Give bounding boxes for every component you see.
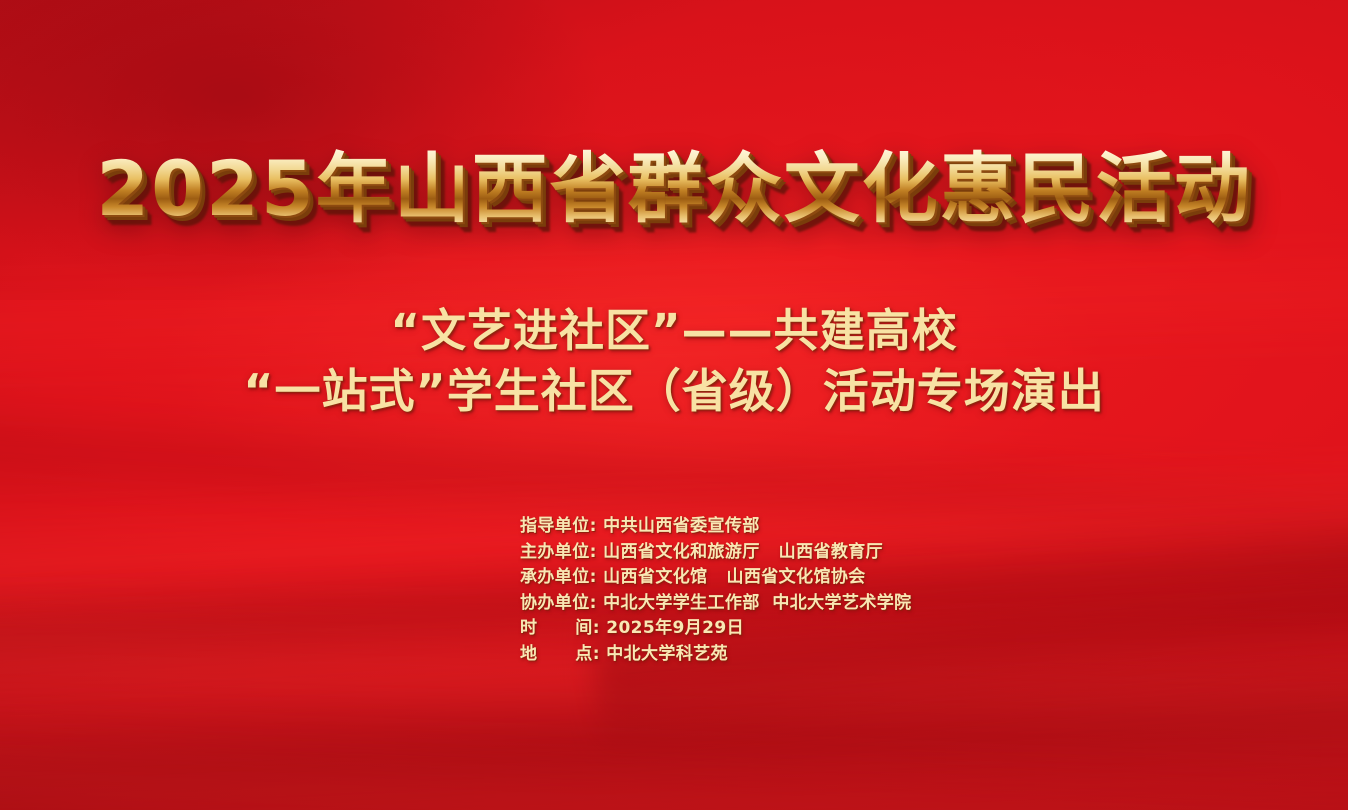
poster-title: 2025年山西省群众文化惠民活动 (96, 148, 1252, 230)
credit-line-time: 时 间: 2025年9月29日 (520, 616, 912, 642)
poster-subtitle-line-1: “文艺进社区”——共建高校 (0, 302, 1348, 360)
credit-line-coorganizer: 协办单位: 中北大学学生工作部 中北大学艺术学院 (520, 591, 912, 617)
title-block: 2025年山西省群众文化惠民活动 (0, 148, 1348, 230)
poster-subtitle-line-2: “一站式”学生社区（省级）活动专场演出 (0, 360, 1348, 422)
poster-content: 2025年山西省群众文化惠民活动 “文艺进社区”——共建高校 “一站式”学生社区… (0, 0, 1348, 810)
credit-line-location: 地 点: 中北大学科艺苑 (520, 642, 912, 668)
credit-line-organizer: 承办单位: 山西省文化馆 山西省文化馆协会 (520, 565, 912, 591)
event-poster: 2025年山西省群众文化惠民活动 “文艺进社区”——共建高校 “一站式”学生社区… (0, 0, 1348, 810)
subtitle-block: “文艺进社区”——共建高校 “一站式”学生社区（省级）活动专场演出 (0, 302, 1348, 422)
credit-line-guidance: 指导单位: 中共山西省委宣传部 (520, 514, 912, 540)
credits-block: 指导单位: 中共山西省委宣传部 主办单位: 山西省文化和旅游厅 山西省教育厅 承… (520, 514, 912, 667)
credit-line-host: 主办单位: 山西省文化和旅游厅 山西省教育厅 (520, 540, 912, 566)
